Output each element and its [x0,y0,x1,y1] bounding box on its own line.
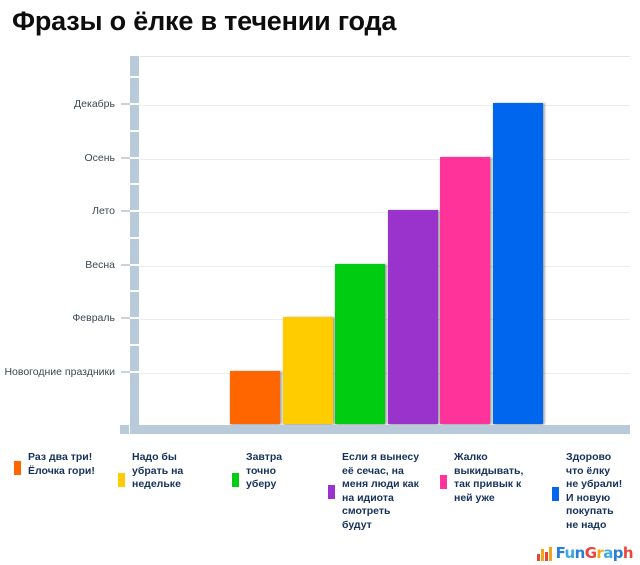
legend-swatch-icon [232,473,239,487]
y-axis-tick-mark [121,157,130,158]
y-axis-tick-mark [121,104,130,105]
legend-item-label: Завтра точно уберу [246,451,282,492]
legend-item-2[interactable]: Надо бы убрать на недельке [118,451,183,492]
bar-2[interactable] [283,317,333,424]
legend-swatch-icon [552,487,559,501]
x-axis-origin-stub [120,425,129,434]
spine-notch [130,157,139,159]
legend-item-label: Раз два три! Ёлочка гори! [28,451,95,478]
spine-notch [130,264,139,266]
spine-notch [130,76,139,78]
y-axis-tick-label: Февраль [72,312,121,324]
y-axis-tick-mark [121,211,130,212]
y-axis-tick-label: Новогодние праздники [4,366,121,378]
fungraph-watermark-logo: FunGraph [537,541,633,561]
legend-item-3[interactable]: Завтра точно уберу [232,451,282,492]
legend-item-label: Здорово что ёлку не убрали! И новую поку… [566,451,622,532]
legend-swatch-icon [118,473,125,487]
spine-notch [130,344,139,346]
y-axis-tick-label: Декабрь [74,98,121,110]
legend-item-label: Надо бы убрать на недельке [132,451,183,492]
y-axis-tick-label: Осень [84,152,121,164]
legend-item-label: Если я вынесу её сечас, на меня люди как… [342,451,419,532]
spine-notch [130,130,139,132]
legend-item-4[interactable]: Если я вынесу её сечас, на меня люди как… [328,451,419,532]
fungraph-wordmark: FunGraph [556,546,633,561]
legend-item-5[interactable]: Жалко выкидывать, так привык к ней уже [440,451,523,505]
spine-notch [130,210,139,212]
y-axis-tick-label: Лето [92,205,121,217]
bar-6[interactable] [493,103,543,424]
spine-notch [130,371,139,373]
y-axis-tick-mark [121,371,130,372]
spine-notch [130,183,139,185]
legend-swatch-icon [328,485,335,499]
legend-item-6[interactable]: Здорово что ёлку не убрали! И новую поку… [552,451,622,532]
bar-3[interactable] [335,264,385,424]
legend-item-label: Жалко выкидывать, так привык к ней уже [454,451,523,505]
x-axis-band [130,425,630,434]
y-axis-tick-mark [121,318,130,319]
legend-swatch-icon [440,475,447,489]
legend-swatch-icon [14,461,21,475]
spine-notch [130,237,139,239]
spine-notch [130,103,139,105]
y-axis-tick-mark [121,264,130,265]
bar-1[interactable] [230,371,280,424]
spine-notch [130,317,139,319]
bar-5[interactable] [440,157,490,424]
y-axis-spine [130,56,139,425]
y-axis-tick-label: Весна [85,259,121,271]
spine-notch [130,290,139,292]
bar-4[interactable] [388,210,438,424]
bar-chart-icon [537,546,554,561]
bar-series [140,56,630,424]
legend-item-1[interactable]: Раз два три! Ёлочка гори! [14,451,95,478]
